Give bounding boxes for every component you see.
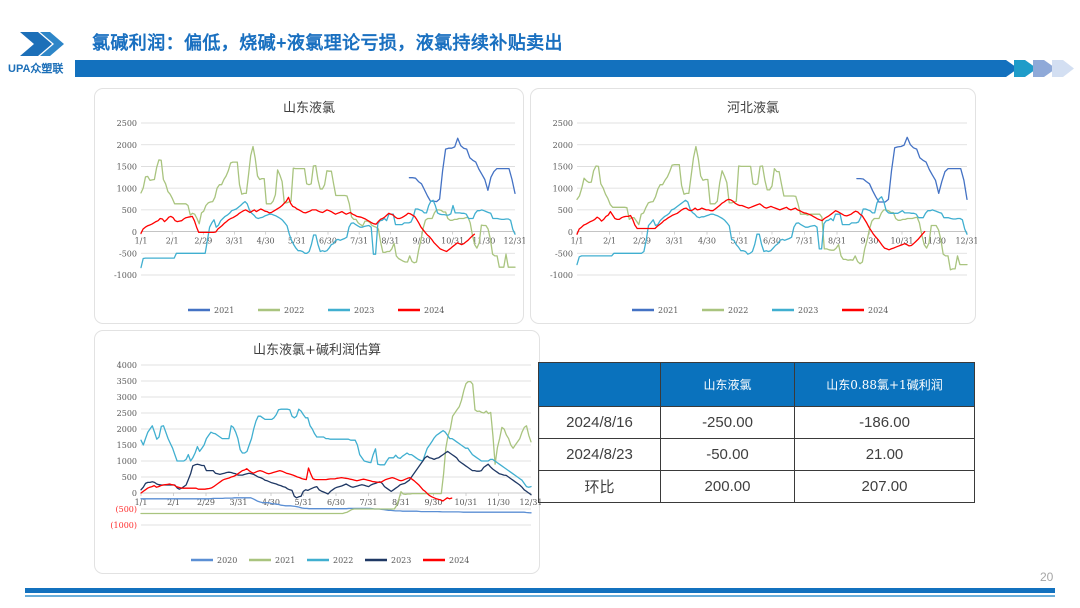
svg-text:2/1: 2/1 — [166, 237, 179, 246]
svg-text:2023: 2023 — [354, 306, 374, 315]
table-header-blank — [539, 363, 661, 407]
svg-text:-1000: -1000 — [114, 271, 137, 280]
svg-text:7/31: 7/31 — [350, 237, 368, 246]
svg-text:2020: 2020 — [217, 556, 237, 565]
table-header-row: 山东液氯 山东0.88氯+1碱利润 — [539, 363, 975, 407]
svg-text:3000: 3000 — [117, 393, 137, 402]
svg-text:1500: 1500 — [117, 441, 137, 450]
svg-text:2021: 2021 — [658, 306, 678, 315]
svg-text:1/1: 1/1 — [571, 237, 584, 246]
svg-text:2500: 2500 — [553, 119, 573, 128]
chart-title: 山东液氯+碱利润估算 — [95, 339, 539, 358]
svg-text:500: 500 — [122, 206, 137, 215]
svg-text:5/31: 5/31 — [295, 498, 313, 507]
svg-text:11/30: 11/30 — [923, 237, 946, 246]
svg-text:2/29: 2/29 — [633, 237, 651, 246]
chart-title: 山东液氯 — [95, 97, 523, 116]
svg-text:1000: 1000 — [117, 457, 137, 466]
svg-text:3/31: 3/31 — [226, 237, 244, 246]
cell-value: 21.00 — [795, 439, 975, 471]
chart-card-hebei-liquid-chlorine: 河北液氯 -1000-500050010001500200025001/12/1… — [530, 88, 976, 324]
svg-text:-1000: -1000 — [550, 271, 573, 280]
svg-text:0: 0 — [132, 489, 137, 498]
svg-text:2/1: 2/1 — [603, 237, 616, 246]
footer-rule — [25, 588, 1055, 593]
svg-text:2500: 2500 — [117, 409, 137, 418]
row-label: 2024/8/16 — [539, 407, 661, 439]
table-header-shandong-liquid-chlorine: 山东液氯 — [661, 363, 795, 407]
svg-text:6/30: 6/30 — [763, 237, 781, 246]
svg-text:1500: 1500 — [553, 163, 573, 172]
cell-value: 207.00 — [795, 471, 975, 503]
svg-text:8/31: 8/31 — [828, 237, 846, 246]
chart-card-shandong-chlorine-alkali-profit: 山东液氯+碱利润估算 (1000)(500)050010001500200025… — [94, 330, 540, 574]
brand-logo-text: UPA众塑联 — [8, 60, 80, 76]
svg-text:6/30: 6/30 — [327, 498, 345, 507]
svg-text:2022: 2022 — [284, 306, 304, 315]
svg-text:0: 0 — [568, 228, 573, 237]
table-row: 2024/8/16 -250.00 -186.00 — [539, 407, 975, 439]
svg-text:1500: 1500 — [117, 163, 137, 172]
svg-text:3/31: 3/31 — [230, 498, 248, 507]
svg-text:500: 500 — [558, 206, 573, 215]
line-chart-shandong-chlorine-alkali-profit: (1000)(500)05001000150020002500300035004… — [95, 357, 541, 573]
svg-text:(1000): (1000) — [110, 521, 137, 530]
cell-value: -250.00 — [661, 407, 795, 439]
svg-text:2024: 2024 — [449, 556, 469, 565]
svg-text:1000: 1000 — [553, 184, 573, 193]
line-chart-shandong-liquid-chlorine: -1000-500050010001500200025001/12/12/293… — [95, 115, 525, 323]
svg-text:2023: 2023 — [391, 556, 411, 565]
table-row: 2024/8/23 -50.00 21.00 — [539, 439, 975, 471]
page-number: 20 — [1040, 570, 1053, 584]
svg-text:2021: 2021 — [214, 306, 234, 315]
row-label: 环比 — [539, 471, 661, 503]
svg-text:12/31: 12/31 — [955, 237, 977, 246]
svg-text:2024: 2024 — [424, 306, 444, 315]
svg-text:1000: 1000 — [117, 184, 137, 193]
svg-text:11/30: 11/30 — [487, 498, 510, 507]
cell-value: -186.00 — [795, 407, 975, 439]
svg-text:6/30: 6/30 — [319, 237, 337, 246]
svg-text:500: 500 — [122, 473, 137, 482]
cell-value: -50.00 — [661, 439, 795, 471]
svg-text:2000: 2000 — [553, 141, 573, 150]
svg-text:3500: 3500 — [117, 377, 137, 386]
table-row: 环比 200.00 207.00 — [539, 471, 975, 503]
svg-text:2000: 2000 — [117, 425, 137, 434]
svg-text:3/31: 3/31 — [666, 237, 684, 246]
svg-text:4/30: 4/30 — [698, 237, 716, 246]
svg-text:2000: 2000 — [117, 141, 137, 150]
svg-text:11/30: 11/30 — [472, 237, 495, 246]
svg-text:-500: -500 — [555, 249, 573, 258]
chevron-arrows-icon — [988, 58, 1074, 79]
table-header-shandong-alkali-profit: 山东0.88氯+1碱利润 — [795, 363, 975, 407]
row-label: 2024/8/23 — [539, 439, 661, 471]
svg-text:7/31: 7/31 — [360, 498, 378, 507]
svg-text:2/29: 2/29 — [194, 237, 212, 246]
svg-text:8/31: 8/31 — [392, 498, 410, 507]
upa-arrow-logo-icon — [18, 28, 68, 60]
svg-text:2021: 2021 — [275, 556, 295, 565]
svg-text:-500: -500 — [119, 249, 137, 258]
svg-text:2024: 2024 — [868, 306, 888, 315]
svg-text:2022: 2022 — [333, 556, 353, 565]
chart-title: 河北液氯 — [531, 97, 975, 116]
svg-text:2500: 2500 — [117, 119, 137, 128]
line-chart-hebei-liquid-chlorine: -1000-500050010001500200025001/12/12/293… — [531, 115, 977, 323]
slide-header: UPA众塑联 氯碱利润：偏低，烧碱+液氯理论亏损，液氯持续补贴卖出 — [0, 0, 1080, 86]
title-accent-bar — [75, 60, 990, 77]
svg-text:2023: 2023 — [798, 306, 818, 315]
chart-card-shandong-liquid-chlorine: 山东液氯 -1000-500050010001500200025001/12/1… — [94, 88, 524, 324]
svg-text:2022: 2022 — [728, 306, 748, 315]
cell-value: 200.00 — [661, 471, 795, 503]
svg-text:1/1: 1/1 — [135, 237, 148, 246]
svg-text:4000: 4000 — [117, 361, 137, 370]
svg-text:5/31: 5/31 — [731, 237, 749, 246]
svg-text:8/31: 8/31 — [381, 237, 399, 246]
svg-text:0: 0 — [132, 228, 137, 237]
svg-text:4/30: 4/30 — [257, 237, 275, 246]
brand-logo: UPA众塑联 — [8, 28, 80, 76]
svg-text:12/31: 12/31 — [503, 237, 525, 246]
profit-summary-table: 山东液氯 山东0.88氯+1碱利润 2024/8/16 -250.00 -186… — [538, 362, 975, 503]
svg-text:7/31: 7/31 — [796, 237, 814, 246]
footer-rule-secondary — [25, 595, 1055, 597]
svg-text:10/31: 10/31 — [454, 498, 477, 507]
page-title: 氯碱利润：偏低，烧碱+液氯理论亏损，液氯持续补贴卖出 — [92, 29, 563, 55]
